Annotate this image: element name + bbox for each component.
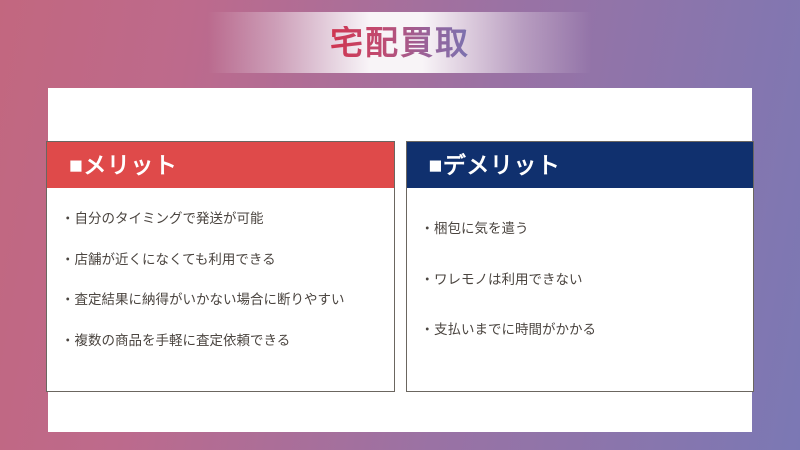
list-item: ・店舗が近くになくても利用できる	[61, 251, 380, 269]
list-item: ・自分のタイミングで発送が可能	[61, 210, 380, 228]
slide-canvas: 宅配買取 ■メリット ・自分のタイミングで発送が可能 ・店舗が近くになくても利用…	[0, 0, 800, 450]
merit-card: ■メリット ・自分のタイミングで発送が可能 ・店舗が近くになくても利用できる ・…	[46, 141, 395, 392]
page-title: 宅配買取	[330, 26, 470, 59]
demerit-card: ■デメリット ・梱包に気を遣う ・ワレモノは利用できない ・支払いまでに時間がか…	[406, 141, 755, 392]
list-item: ・支払いまでに時間がかかる	[421, 321, 740, 339]
title-banner: 宅配買取	[208, 12, 592, 73]
list-item: ・ワレモノは利用できない	[421, 271, 740, 289]
merit-card-header: ■メリット	[47, 142, 394, 188]
demerit-card-body: ・梱包に気を遣う ・ワレモノは利用できない ・支払いまでに時間がかかる	[407, 188, 754, 391]
cards-row: ■メリット ・自分のタイミングで発送が可能 ・店舗が近くになくても利用できる ・…	[46, 141, 754, 392]
demerit-card-header: ■デメリット	[407, 142, 754, 188]
list-item: ・査定結果に納得がいかない場合に断りやすい	[61, 291, 380, 309]
merit-card-title: ■メリット	[69, 154, 177, 177]
merit-card-body: ・自分のタイミングで発送が可能 ・店舗が近くになくても利用できる ・査定結果に納…	[47, 188, 394, 391]
list-item: ・複数の商品を手軽に査定依頼できる	[61, 332, 380, 350]
list-item: ・梱包に気を遣う	[421, 220, 740, 238]
demerit-card-title: ■デメリット	[429, 154, 561, 177]
